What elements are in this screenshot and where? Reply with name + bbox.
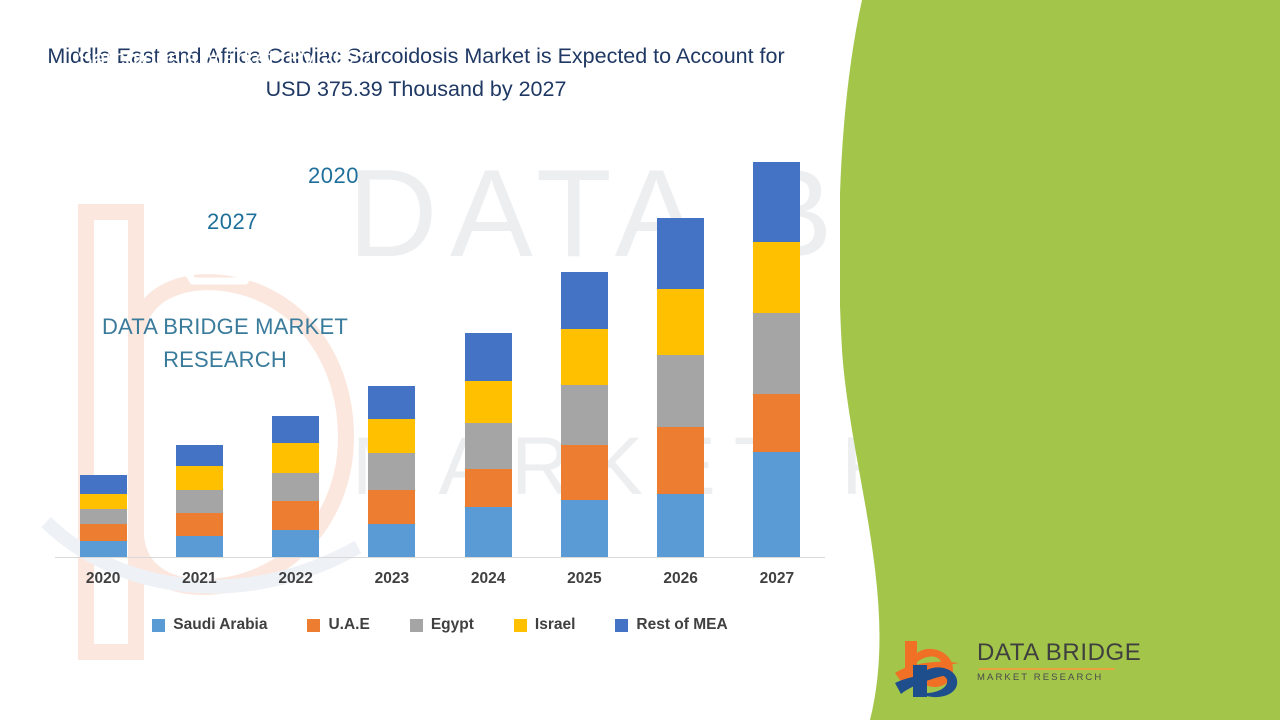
x-axis-tick-label: 2023 (344, 570, 440, 588)
brand-logo: DATA BRIDGE MARKET RESEARCH (893, 637, 1113, 699)
bar-segment[interactable] (753, 394, 800, 453)
legend-label: U.A.E (328, 616, 369, 634)
bar-segment[interactable] (176, 466, 223, 490)
bar-segment[interactable] (80, 475, 127, 494)
hexagon-label-end-year: 2027 (207, 209, 258, 235)
logo-main-text: DATA BRIDGE (977, 639, 1117, 667)
bar-segment[interactable] (561, 272, 608, 330)
legend-label: Egypt (431, 616, 474, 634)
bar-segment[interactable] (753, 313, 800, 393)
bar-segment[interactable] (368, 490, 415, 524)
legend-item[interactable]: Rest of MEA (615, 616, 727, 634)
bar-segment[interactable] (176, 445, 223, 466)
hexagon-year-group: 2020 2027 (145, 140, 395, 290)
logo-sub-text: MARKET RESEARCH (977, 672, 1117, 684)
bar-segment[interactable] (465, 469, 512, 506)
bar-segment[interactable] (368, 386, 415, 419)
x-axis-tick-label: 2027 (729, 570, 825, 588)
x-axis-tick-label: 2020 (55, 570, 151, 588)
bar-segment[interactable] (561, 385, 608, 445)
bar-segment[interactable] (80, 541, 127, 557)
bar-segment[interactable] (561, 445, 608, 501)
bar-segment[interactable] (368, 419, 415, 453)
stacked-bar[interactable] (176, 445, 223, 557)
x-axis-tick-label: 2026 (633, 570, 729, 588)
bar-segment[interactable] (465, 333, 512, 381)
bar-segment[interactable] (80, 494, 127, 509)
bar-segment[interactable] (368, 524, 415, 557)
panel-title: Middle East and Africa Cardiac Sarcoidos… (40, 10, 410, 74)
stacked-bar[interactable] (753, 162, 800, 557)
legend-swatch-icon (307, 619, 320, 632)
bar-segment[interactable] (272, 416, 319, 443)
bar-slot-2025 (536, 151, 632, 557)
legend-item[interactable]: U.A.E (307, 616, 369, 634)
hexagon-label-start-year: 2020 (308, 163, 359, 189)
bar-segment[interactable] (272, 443, 319, 473)
legend-label: Israel (535, 616, 576, 634)
bar-segment[interactable] (176, 536, 223, 557)
bar-segment[interactable] (753, 242, 800, 314)
x-axis-tick-label: 2025 (536, 570, 632, 588)
bar-segment[interactable] (657, 218, 704, 289)
panel-brand-name: DATA BRIDGE MARKET RESEARCH (50, 310, 400, 376)
bar-segment[interactable] (753, 452, 800, 557)
legend-label: Saudi Arabia (173, 616, 267, 634)
bar-segment[interactable] (176, 513, 223, 535)
stacked-bar[interactable] (465, 333, 512, 557)
legend-item[interactable]: Saudi Arabia (152, 616, 267, 634)
data-bridge-logo-icon (893, 637, 971, 699)
stacked-bar[interactable] (561, 272, 608, 557)
bar-segment[interactable] (561, 329, 608, 385)
legend-swatch-icon (615, 619, 628, 632)
bar-segment[interactable] (176, 490, 223, 514)
legend-label: Rest of MEA (636, 616, 727, 634)
legend-item[interactable]: Israel (514, 616, 576, 634)
bar-segment[interactable] (657, 289, 704, 355)
bar-segment[interactable] (80, 524, 127, 541)
legend-swatch-icon (152, 619, 165, 632)
legend-swatch-icon (410, 619, 423, 632)
logo-divider (979, 668, 1115, 670)
bar-segment[interactable] (272, 473, 319, 502)
legend-swatch-icon (514, 619, 527, 632)
x-axis-tick-label: 2021 (151, 570, 247, 588)
bar-segment[interactable] (465, 381, 512, 424)
bar-segment[interactable] (272, 530, 319, 557)
chart-legend: Saudi ArabiaU.A.EEgyptIsraelRest of MEA (55, 616, 825, 634)
bar-segment[interactable] (465, 423, 512, 469)
green-side-panel (840, 0, 1280, 720)
bar-segment[interactable] (561, 500, 608, 557)
x-axis-labels: 20202021202220232024202520262027 (55, 570, 825, 588)
stacked-bar[interactable] (80, 475, 127, 557)
stacked-bar[interactable] (368, 386, 415, 557)
bar-segment[interactable] (657, 355, 704, 427)
legend-item[interactable]: Egypt (410, 616, 474, 634)
stacked-bar[interactable] (272, 416, 319, 557)
bar-slot-2026 (633, 151, 729, 557)
logo-wordmark: DATA BRIDGE MARKET RESEARCH (977, 639, 1117, 684)
x-axis-tick-label: 2024 (440, 570, 536, 588)
bar-segment[interactable] (272, 501, 319, 530)
bar-segment[interactable] (80, 509, 127, 524)
x-axis-tick-label: 2022 (248, 570, 344, 588)
x-axis-line (55, 557, 825, 558)
bar-slot-2027 (729, 151, 825, 557)
stacked-bar[interactable] (657, 218, 704, 557)
bar-segment[interactable] (368, 453, 415, 489)
bar-segment[interactable] (465, 507, 512, 557)
bar-segment[interactable] (753, 162, 800, 242)
bar-segment[interactable] (657, 427, 704, 494)
bar-slot-2024 (440, 151, 536, 557)
bar-segment[interactable] (657, 494, 704, 557)
slide-canvas: DATA BRIDGE MARKET RESEARCH Middle East … (0, 0, 1280, 720)
